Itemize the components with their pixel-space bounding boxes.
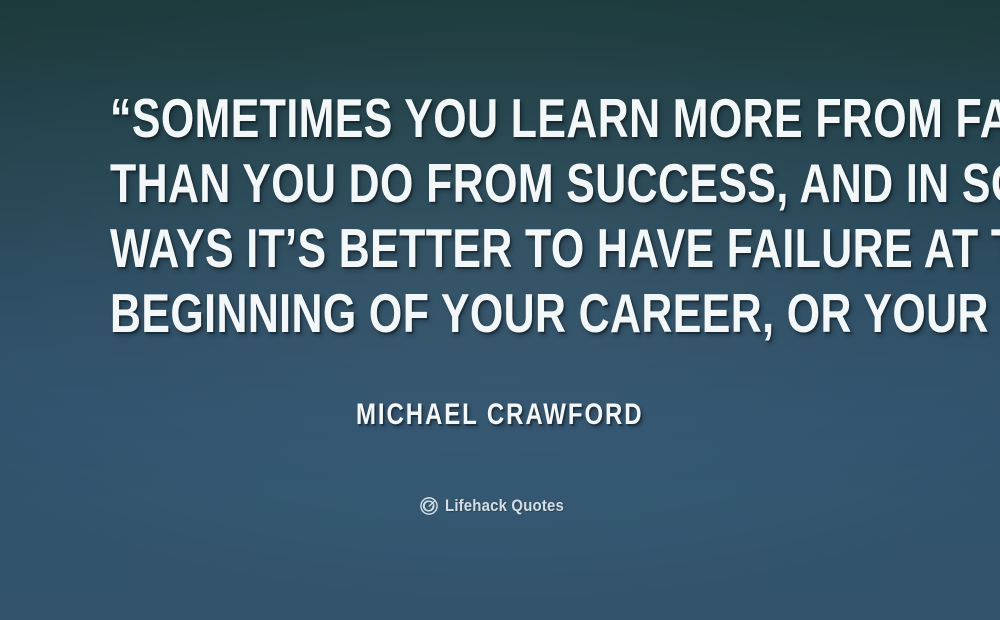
quote-line: “SOMETIMES YOU LEARN MORE FROM FAILURE <box>110 86 890 151</box>
lifehack-circle-logo-icon <box>420 497 438 515</box>
quote-author: MICHAEL CRAWFORD <box>356 398 644 432</box>
quote-line: THAN YOU DO FROM SUCCESS, AND IN SOME <box>110 151 890 216</box>
watermark-label: Lifehack Quotes <box>445 497 564 515</box>
quote-card: “SOMETIMES YOU LEARN MORE FROM FAILURE T… <box>0 0 1000 620</box>
watermark: Lifehack Quotes <box>0 497 1000 515</box>
quote-text-block: “SOMETIMES YOU LEARN MORE FROM FAILURE T… <box>0 86 1000 346</box>
quote-line: WAYS IT’S BETTER TO HAVE FAILURE AT THE <box>110 216 890 281</box>
quote-content: “SOMETIMES YOU LEARN MORE FROM FAILURE T… <box>0 0 1000 620</box>
quote-line: BEGINNING OF YOUR CAREER, OR YOUR LIFE.” <box>110 281 890 346</box>
